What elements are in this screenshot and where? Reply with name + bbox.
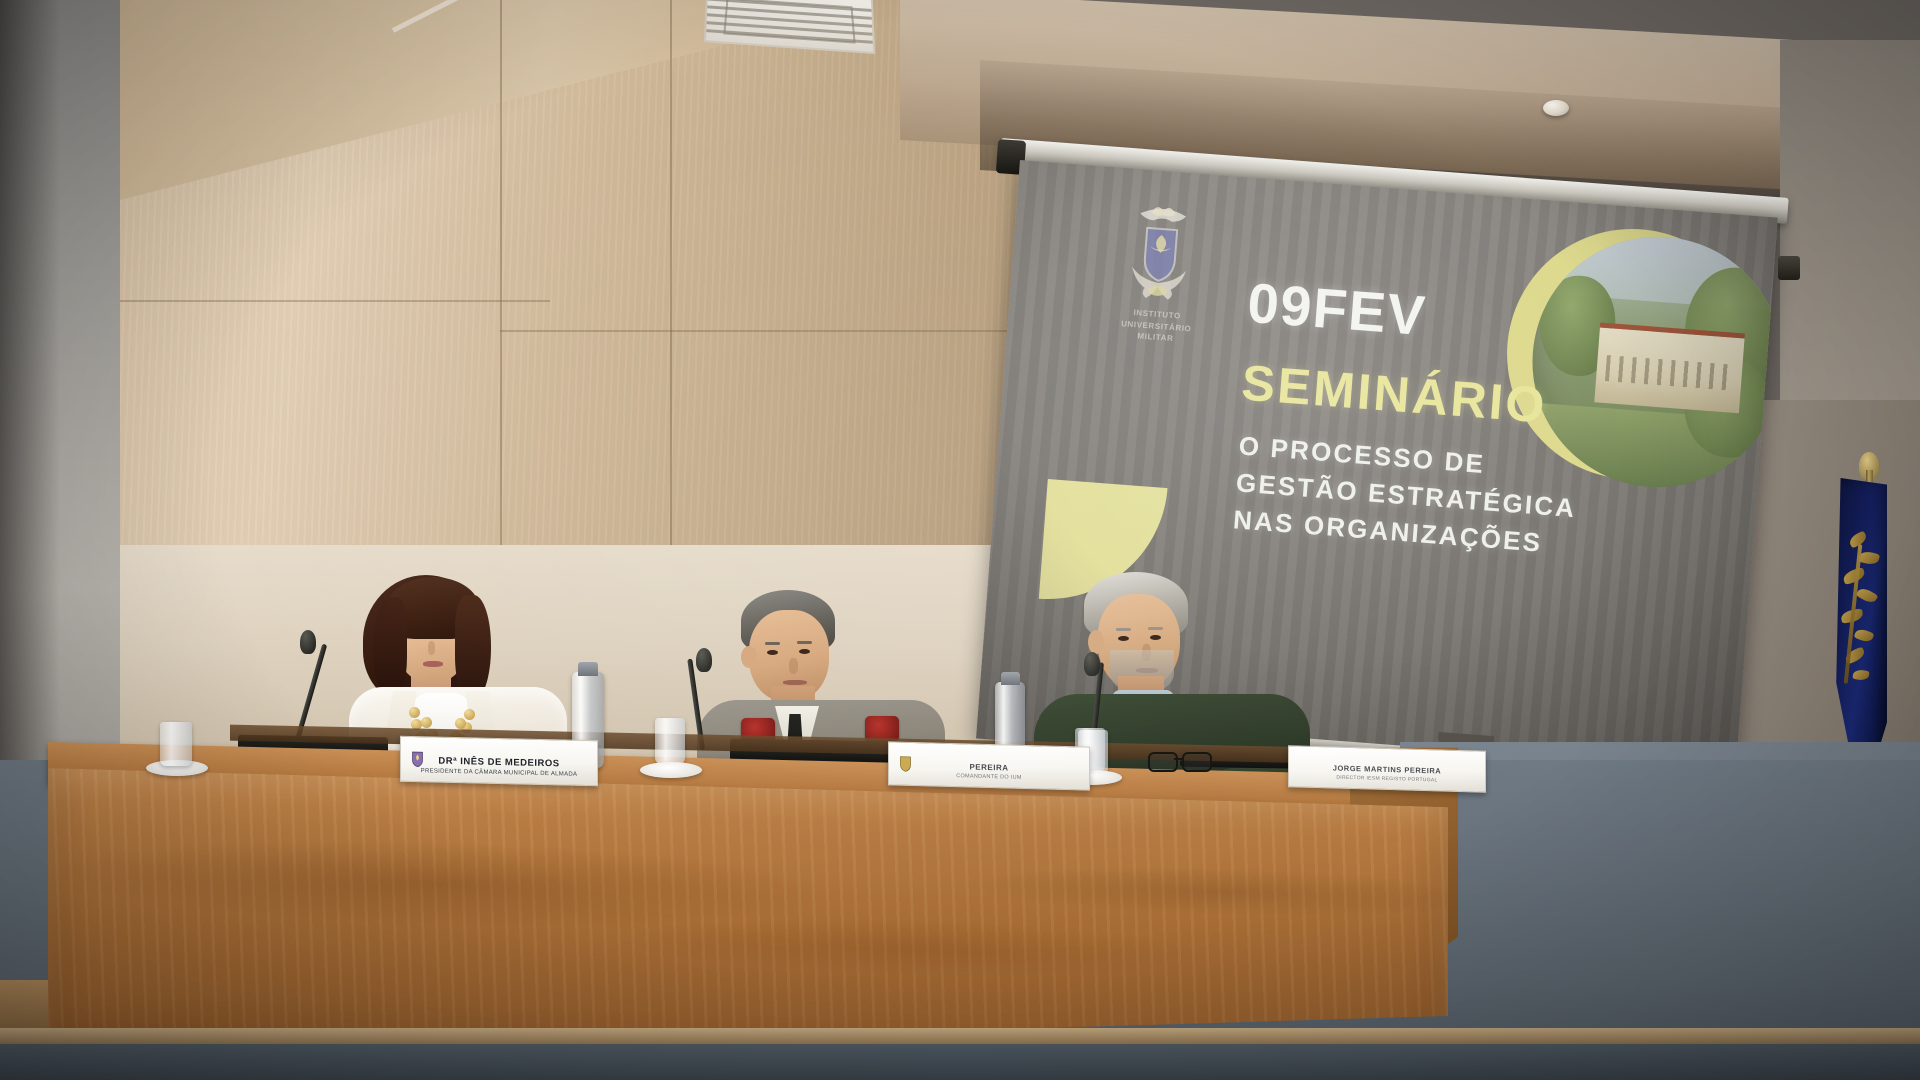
panelist-1-hair-right (455, 595, 491, 701)
roller-end-cap-right (1778, 256, 1800, 280)
photograph-scene: INSTITUTO UNIVERSITÁRIO MILITAR 09FEV SE… (0, 0, 1920, 1080)
microphone-head-2 (696, 648, 712, 672)
drinking-glass-0 (160, 722, 192, 766)
saucer-2 (640, 762, 702, 778)
crest-caption: INSTITUTO UNIVERSITÁRIO MILITAR (1093, 304, 1220, 348)
microphone-head-1 (300, 630, 316, 654)
institution-crest-icon (1119, 196, 1201, 311)
eyeglasses (1148, 752, 1218, 772)
wall-seam-vertical (500, 0, 502, 580)
nameplate-1-role: PRESIDENTE DA CÂMARA MUNICIPAL DE ALMADA (421, 768, 578, 778)
nameplate-3-role: DIRECTOR IESM REGISTO PORTUGAL (1336, 774, 1437, 783)
slide-date: 09FEV (1245, 270, 1428, 348)
smoke-detector-icon (1543, 100, 1569, 116)
water-bottle-cap-1 (578, 662, 598, 676)
panelist-3-ear (1088, 630, 1104, 654)
nameplate-2-name: PEREIRA (969, 762, 1008, 772)
wall-seam-vertical (670, 0, 672, 600)
panelist-1-hair-left (373, 597, 407, 701)
nameplate-1: DRª INÊS DE MEDEIROS PRESIDENTE DA CÂMAR… (400, 736, 598, 786)
panelist-2-ear (741, 646, 757, 668)
nameplate-2: PEREIRA COMANDANTE DO IUM (888, 741, 1090, 790)
slide-title: SEMINÁRIO (1240, 354, 1549, 435)
nameplate-3-name: JORGE MARTINS PEREIRA (1333, 763, 1441, 775)
wall-seam-horizontal (120, 300, 550, 302)
stage-front-face (0, 1044, 1920, 1080)
nameplate-crest-icon-2 (899, 756, 912, 772)
nameplate-1-name: DRª INÊS DE MEDEIROS (438, 755, 559, 769)
microphone-head-3 (1084, 652, 1100, 676)
nameplate-crest-icon-1 (411, 751, 424, 767)
wall-seam-horizontal (500, 330, 1040, 332)
nameplate-2-role: COMANDANTE DO IUM (956, 773, 1022, 781)
stage-edge-trim (0, 1028, 1920, 1044)
drinking-glass-1 (655, 718, 685, 764)
water-bottle-cap-2 (1001, 672, 1020, 685)
left-wall-shadow (0, 0, 60, 840)
nameplate-3: JORGE MARTINS PEREIRA DIRECTOR IESM REGI… (1288, 745, 1486, 793)
